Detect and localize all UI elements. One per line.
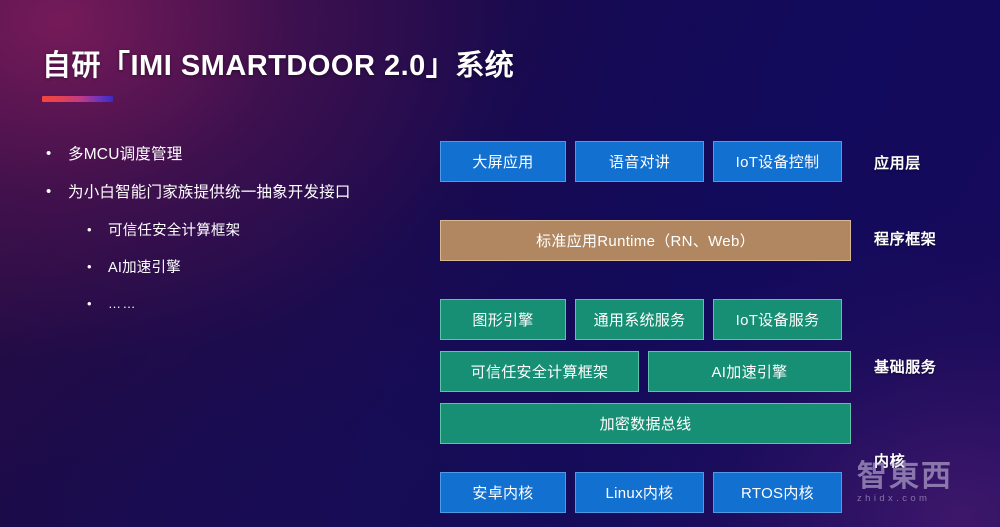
- layer-row-base-services-2: 可信任安全计算框架 AI加速引擎: [440, 351, 851, 392]
- list-item: • 多MCU调度管理: [46, 145, 416, 164]
- stack-box-iot-device-control: IoT设备控制: [713, 141, 842, 182]
- box-gap: [704, 141, 713, 182]
- bullet-marker-icon: •: [87, 259, 108, 275]
- bullet-marker-icon: •: [87, 296, 108, 312]
- title-block: 自研「IMI SMARTDOOR 2.0」系统: [42, 42, 514, 102]
- box-gap: [704, 472, 713, 513]
- list-item: • ……: [46, 296, 416, 312]
- stack-box-android-kernel: 安卓内核: [440, 472, 566, 513]
- list-item-label: 可信任安全计算框架: [108, 222, 240, 240]
- page-title: 自研「IMI SMARTDOOR 2.0」系统: [42, 42, 514, 84]
- layer-label-base-services: 基础服务: [874, 356, 936, 377]
- stack-box-graphics-engine: 图形引擎: [440, 299, 566, 340]
- list-item: • 可信任安全计算框架: [46, 222, 416, 240]
- stack-box-trusted-security-compute-framework: 可信任安全计算框架: [440, 351, 639, 392]
- bullet-marker-icon: •: [87, 222, 108, 238]
- stack-box-linux-kernel: Linux内核: [575, 472, 704, 513]
- list-item-label: 多MCU调度管理: [68, 145, 182, 164]
- watermark-domain-text: zhidx.com: [857, 493, 993, 504]
- presentation-slide: 自研「IMI SMARTDOOR 2.0」系统 • 多MCU调度管理 • 为小白…: [0, 0, 1000, 527]
- feature-bullet-list: • 多MCU调度管理 • 为小白智能门家族提供统一抽象开发接口 • 可信任安全计…: [46, 145, 416, 331]
- box-gap: [566, 141, 575, 182]
- row-gap: [440, 340, 851, 351]
- box-gap: [566, 299, 575, 340]
- stack-box-rtos-kernel: RTOS内核: [713, 472, 842, 513]
- layer-gap: [440, 261, 851, 299]
- stack-box-general-system-service: 通用系统服务: [575, 299, 704, 340]
- stack-box-voice-intercom: 语音对讲: [575, 141, 704, 182]
- layer-row-framework: 标准应用Runtime（RN、Web）: [440, 220, 851, 261]
- list-item: • AI加速引擎: [46, 259, 416, 277]
- architecture-stack-diagram: 大屏应用 语音对讲 IoT设备控制 标准应用Runtime（RN、Web） 图形…: [440, 141, 851, 513]
- stack-box-ai-acceleration-engine: AI加速引擎: [648, 351, 851, 392]
- layer-gap: [440, 444, 851, 472]
- stack-box-standard-app-runtime: 标准应用Runtime（RN、Web）: [440, 220, 851, 261]
- box-gap: [704, 299, 713, 340]
- row-gap: [440, 392, 851, 403]
- layer-label-kernel: 内核: [874, 450, 905, 471]
- bullet-marker-icon: •: [46, 183, 68, 202]
- layer-gap: [440, 182, 851, 220]
- layer-row-application: 大屏应用 语音对讲 IoT设备控制: [440, 141, 851, 182]
- layer-row-base-services-3: 加密数据总线: [440, 403, 851, 444]
- title-accent-rule: [42, 96, 113, 102]
- stack-box-iot-device-service: IoT设备服务: [713, 299, 842, 340]
- stack-box-encrypted-data-bus: 加密数据总线: [440, 403, 851, 444]
- box-gap: [639, 351, 648, 392]
- stack-box-large-screen-app: 大屏应用: [440, 141, 566, 182]
- list-item-label: 为小白智能门家族提供统一抽象开发接口: [68, 183, 351, 202]
- layer-label-framework: 程序框架: [874, 228, 936, 249]
- list-item-label: AI加速引擎: [108, 259, 181, 277]
- list-item: • 为小白智能门家族提供统一抽象开发接口: [46, 183, 416, 202]
- layer-label-application: 应用层: [874, 152, 921, 173]
- box-gap: [566, 472, 575, 513]
- list-item-label: ……: [108, 296, 137, 312]
- layer-row-kernel: 安卓内核 Linux内核 RTOS内核: [440, 472, 851, 513]
- layer-row-base-services-1: 图形引擎 通用系统服务 IoT设备服务: [440, 299, 851, 340]
- bullet-marker-icon: •: [46, 145, 68, 164]
